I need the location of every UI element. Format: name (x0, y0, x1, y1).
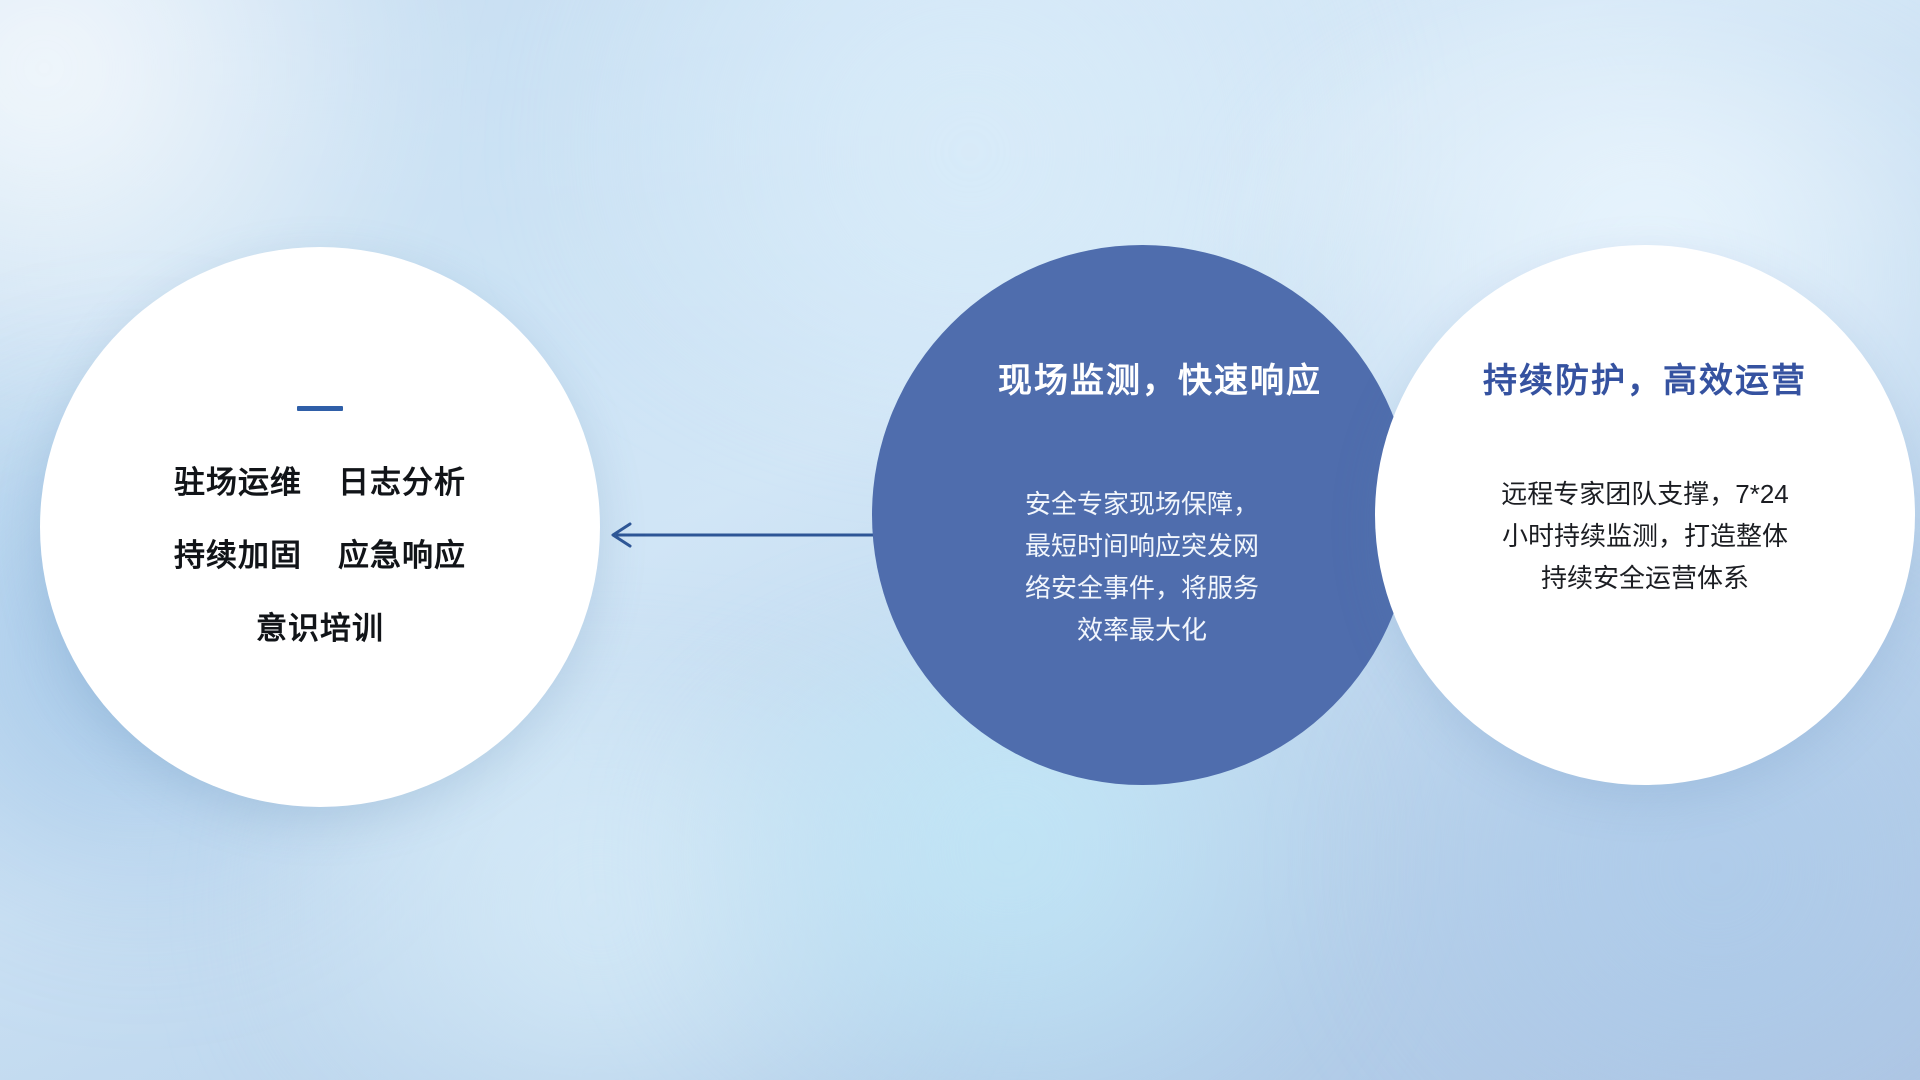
body-line: 小时持续监测，打造整体 (1403, 515, 1887, 557)
capabilities-circle[interactable]: 驻场运维 日志分析 持续加固 应急响应 意识培训 (40, 247, 600, 807)
body-line: 持续安全运营体系 (1403, 557, 1887, 599)
body-line: 络安全事件，将服务 (922, 567, 1362, 609)
continuous-protection-circle[interactable]: 持续防护，高效运营 远程专家团队支撑，7*24 小时持续监测，打造整体 持续安全… (1375, 245, 1915, 785)
body-line: 远程专家团队支撑，7*24 (1403, 473, 1887, 515)
body-line: 安全专家现场保障， (922, 483, 1362, 525)
body-line: 效率最大化 (922, 609, 1362, 651)
continuous-protection-body: 远程专家团队支撑，7*24 小时持续监测，打造整体 持续安全运营体系 (1403, 473, 1887, 599)
capability-label: 日志分析 (338, 457, 466, 502)
continuous-protection-title: 持续防护，高效运营 (1395, 353, 1895, 402)
left-arrow-icon (600, 515, 900, 555)
list-item: 驻场运维 日志分析 (174, 457, 466, 502)
capability-label: 驻场运维 (174, 457, 302, 502)
capability-label: 持续加固 (174, 530, 302, 575)
onsite-monitoring-circle[interactable]: 安全专家现场保障， 最短时间响应突发网 络安全事件，将服务 效率最大化 (872, 245, 1412, 785)
onsite-monitoring-body: 安全专家现场保障， 最短时间响应突发网 络安全事件，将服务 效率最大化 (922, 483, 1362, 651)
dash-mark (297, 406, 343, 411)
body-line: 最短时间响应突发网 (922, 525, 1362, 567)
slide-canvas: 驻场运维 日志分析 持续加固 应急响应 意识培训 安全专家现场保障， 最短时间响… (0, 0, 1920, 1080)
list-item: 意识培训 (174, 603, 466, 648)
list-item: 持续加固 应急响应 (174, 530, 466, 575)
capability-label: 应急响应 (338, 530, 466, 575)
capability-list: 驻场运维 日志分析 持续加固 应急响应 意识培训 (174, 457, 466, 648)
onsite-monitoring-title: 现场监测，快速响应 (890, 353, 1430, 402)
capability-label: 意识培训 (256, 603, 384, 648)
